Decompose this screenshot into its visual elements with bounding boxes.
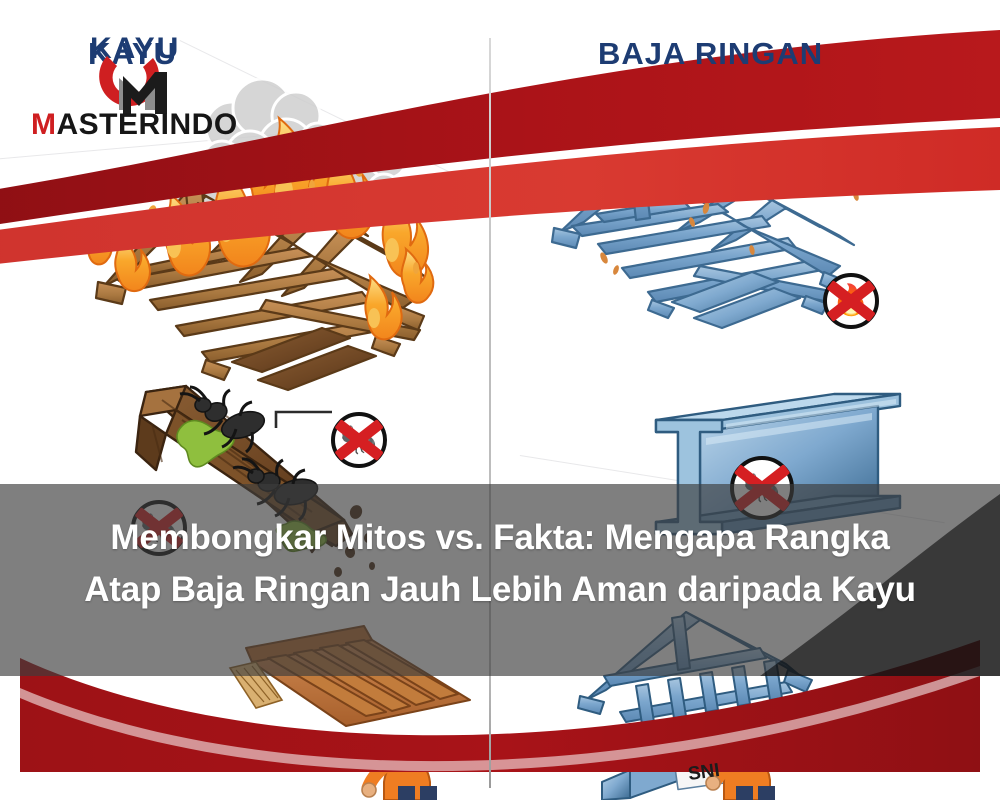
logo-text-masterindo: MASTERINDO xyxy=(31,108,238,142)
no-fire-badge: 🔥 xyxy=(823,273,879,329)
page-title: Membongkar Mitos vs. Fakta: Mengapa Rang… xyxy=(0,512,1000,616)
panel-heading-baja-ringan: BAJA RINGAN xyxy=(598,36,823,72)
logo-masterindo-rest: ASTERINDO xyxy=(57,108,238,141)
no-termite-badge-left: 🐜 xyxy=(331,412,387,468)
brand-logo[interactable]: KAYU MASTERINDO xyxy=(24,30,254,148)
infographic-canvas: KAYU BAJA RINGAN KAYU MASTERINDO 🔥 🐜 🐜 🐜 xyxy=(0,0,1000,800)
logo-masterindo-accent: M xyxy=(31,108,57,141)
page-title-line-2: Atap Baja Ringan Jauh Lebih Aman daripad… xyxy=(18,564,982,616)
page-title-line-1: Membongkar Mitos vs. Fakta: Mengapa Rang… xyxy=(110,518,889,557)
